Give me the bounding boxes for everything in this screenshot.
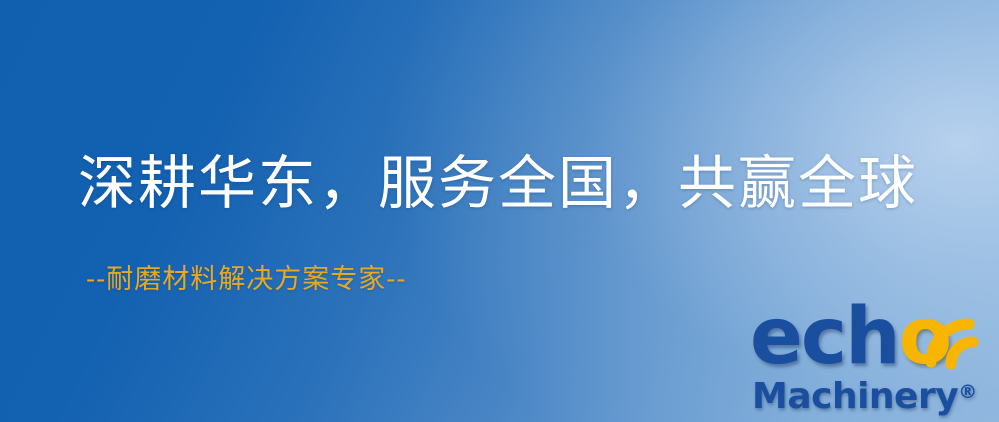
logo-tagline: Machinery® <box>752 372 977 417</box>
logo-wordmark-accent-o: o <box>899 292 951 382</box>
logo-wordmark: echo <box>750 298 950 376</box>
logo-tagline-text: Machinery <box>752 376 958 417</box>
banner-headline: 深耕华东，服务全国，共赢全球 <box>78 152 918 215</box>
promotional-banner: 深耕华东，服务全国，共赢全球 --耐磨材料解决方案专家-- echo Machi… <box>0 0 999 422</box>
company-logo[interactable]: echo Machinery® <box>744 296 996 420</box>
logo-wordmark-prefix: ech <box>750 292 899 382</box>
banner-subtitle: --耐磨材料解决方案专家-- <box>86 265 407 295</box>
registered-trademark-icon: ® <box>958 381 977 403</box>
